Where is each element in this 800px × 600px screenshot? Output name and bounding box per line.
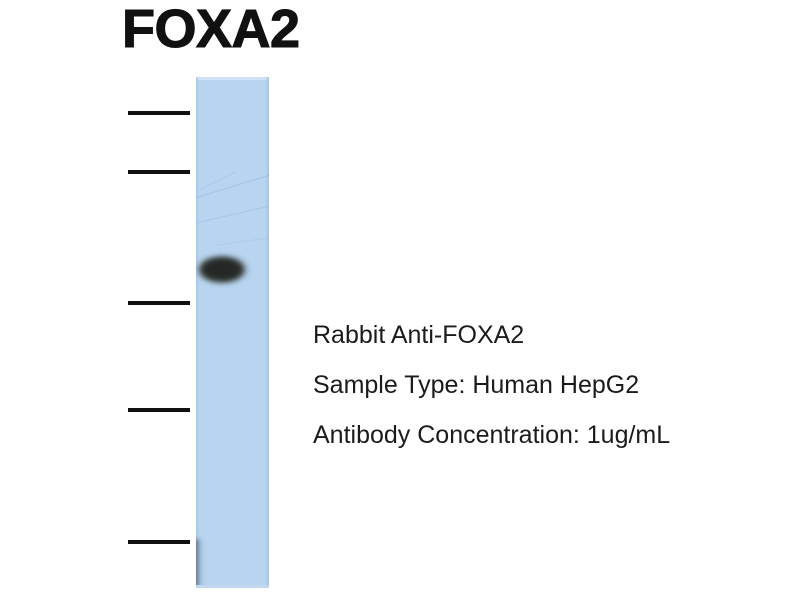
lane-right-edge [265, 77, 269, 588]
page-title: FOXA2 [122, 2, 300, 56]
annotation-antibody: Rabbit Anti-FOXA2 [313, 310, 670, 360]
lane-left-edge [196, 77, 199, 588]
annotation-block: Rabbit Anti-FOXA2 Sample Type: Human Hep… [313, 310, 670, 460]
gel-lane [196, 77, 269, 588]
annotation-antibody-concentration: Antibody Concentration: 1ug/mL [313, 410, 670, 460]
western-blot-figure: FOXA2 90 65 40 29 22 [0, 0, 800, 600]
lane-bottom-edge [196, 585, 269, 588]
gel-streak-artifact [196, 205, 269, 224]
mw-marker-dash [128, 111, 190, 115]
gel-streak-artifact [214, 237, 269, 246]
mw-marker-dash [128, 540, 190, 544]
mw-marker-dash [128, 301, 190, 305]
mw-marker-dash [128, 408, 190, 412]
gel-streak-artifact [196, 174, 269, 200]
protein-band-foxa2-core [202, 260, 242, 279]
annotation-sample-type: Sample Type: Human HepG2 [313, 360, 670, 410]
lane-top-edge [196, 77, 269, 80]
mw-marker-dash [128, 170, 190, 174]
lane-bottom-smear-artifact [196, 539, 205, 588]
